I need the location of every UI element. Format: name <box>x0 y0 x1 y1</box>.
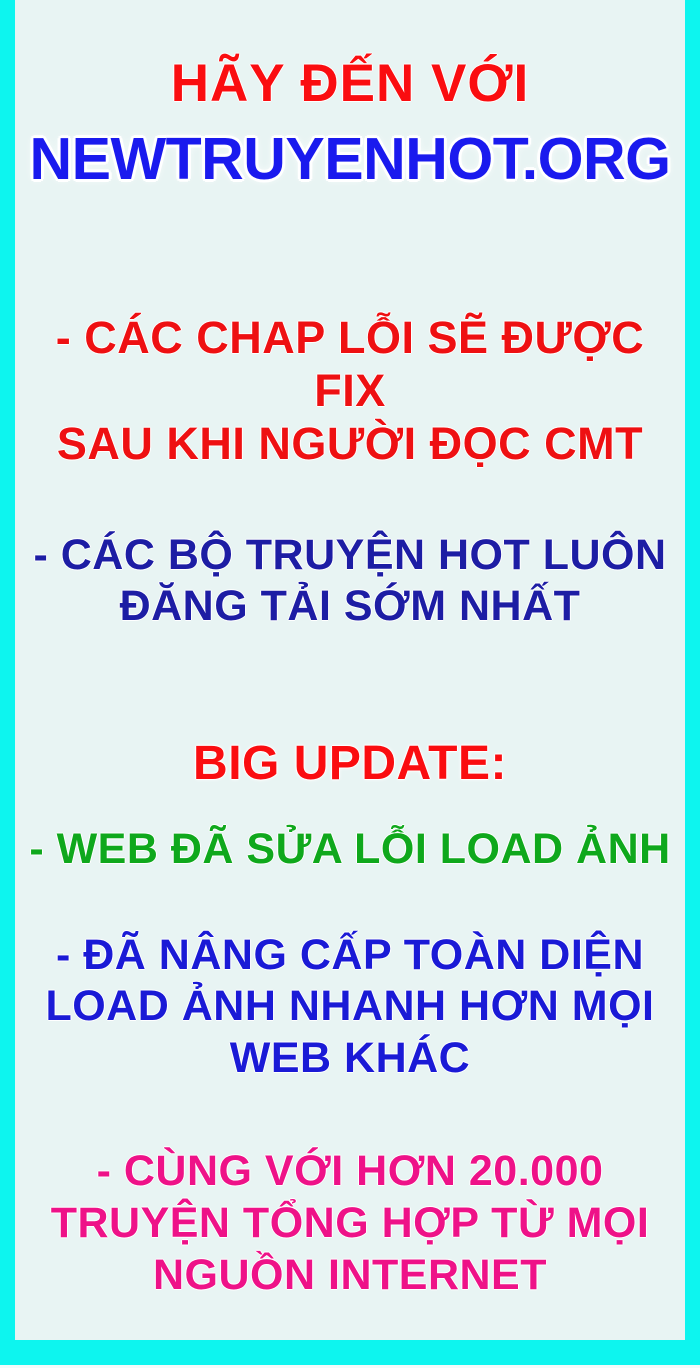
notice-line: SAU KHI NGƯỜI ĐỌC CMT <box>29 418 671 471</box>
bottom-accent-bar <box>0 1340 700 1365</box>
notice-line: - CÁC BỘ TRUYỆN HOT LUÔN <box>29 530 671 580</box>
promo-banner: HÃY ĐẾN VỚI NEWTRUYENHOT.ORG - CÁC CHAP … <box>0 0 700 1368</box>
notice-line: ĐĂNG TẢI SỚM NHẤT <box>29 581 671 631</box>
full-upgrade-item: - ĐÃ NÂNG CẤP TOÀN DIỆN LOAD ẢNH NHANH H… <box>29 930 671 1085</box>
update-line: - CÙNG VỚI HƠN 20.000 <box>29 1146 671 1198</box>
update-line: - WEB ĐÃ SỬA LỖI LOAD ẢNH <box>29 827 671 872</box>
banner-tagline: HÃY ĐẾN VỚI <box>29 56 671 111</box>
update-line: NGUỒN INTERNET <box>29 1250 671 1302</box>
left-accent-bar <box>0 0 15 1365</box>
image-load-fix-item: - WEB ĐÃ SỬA LỖI LOAD ẢNH <box>29 827 671 872</box>
banner-content: HÃY ĐẾN VỚI NEWTRUYENHOT.ORG - CÁC CHAP … <box>15 0 685 1343</box>
story-count-item: - CÙNG VỚI HƠN 20.000 TRUYỆN TỔNG HỢP TỪ… <box>29 1146 671 1301</box>
hot-series-notice: - CÁC BỘ TRUYỆN HOT LUÔN ĐĂNG TẢI SỚM NH… <box>29 530 671 631</box>
update-line: TRUYỆN TỔNG HỢP TỪ MỌI <box>29 1198 671 1250</box>
big-update-heading: BIG UPDATE: <box>29 739 671 789</box>
update-line: LOAD ẢNH NHANH HƠN MỌI <box>29 981 671 1033</box>
right-accent-bar <box>685 0 700 1365</box>
update-line: - ĐÃ NÂNG CẤP TOÀN DIỆN <box>29 930 671 982</box>
chapter-fix-notice: - CÁC CHAP LỖI SẼ ĐƯỢC FIX SAU KHI NGƯỜI… <box>29 312 671 470</box>
notice-line: - CÁC CHAP LỖI SẼ ĐƯỢC FIX <box>29 312 671 417</box>
site-url-link[interactable]: NEWTRUYENHOT.ORG <box>29 129 671 190</box>
update-line: WEB KHÁC <box>29 1033 671 1085</box>
